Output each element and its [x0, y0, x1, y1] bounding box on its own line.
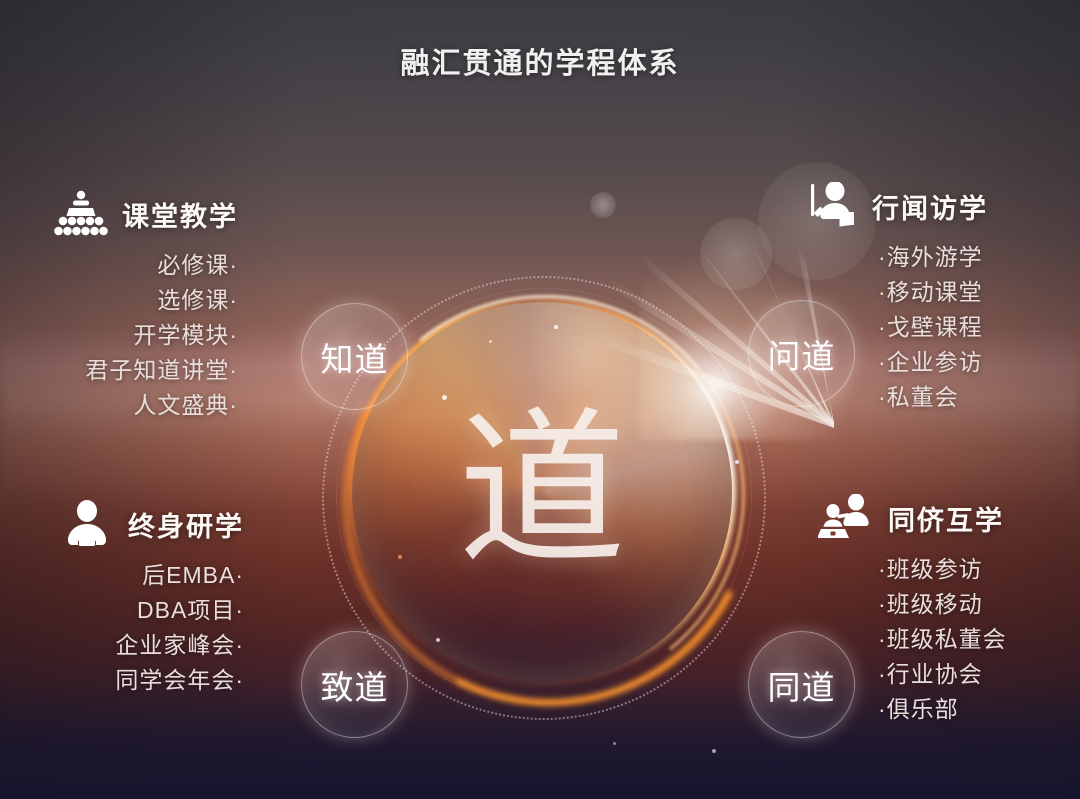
bokeh-circle-small — [590, 192, 616, 218]
group-title: 行闻访学 — [872, 187, 988, 226]
group-study-travel: 行闻访学 ·海外游学 ·移动课堂 ·戈壁课程 ·企业参访 ·私董会 — [802, 182, 988, 415]
list-item[interactable]: 同学会年会· — [58, 663, 244, 698]
bubble-zhidao2[interactable]: 致道 — [301, 631, 408, 738]
group-title: 同侪互学 — [888, 499, 1004, 538]
sparkle-speck — [436, 638, 440, 642]
group-lifelong-learning: 终身研学 后EMBA· DBA项目· 企业家峰会· 同学会年会· — [58, 500, 244, 698]
group-item-list: 必修课· 选修课· 开学模块· 君子知道讲堂· 人文盛典· — [52, 248, 238, 423]
sparkle-speck — [442, 395, 447, 400]
group-header: 终身研学 — [58, 500, 244, 548]
list-item[interactable]: 君子知道讲堂· — [52, 353, 238, 388]
list-item[interactable]: 人文盛典· — [52, 388, 238, 423]
bubble-zhidao[interactable]: 知道 — [301, 303, 408, 410]
group-header: 课堂教学 — [52, 190, 238, 238]
group-item-list: ·海外游学 ·移动课堂 ·戈壁课程 ·企业参访 ·私董会 — [878, 240, 988, 415]
sparkle-speck — [489, 340, 492, 343]
bubble-label: 知道 — [321, 333, 389, 381]
group-item-list: ·班级参访 ·班级移动 ·班级私董会 ·行业协会 ·俱乐部 — [878, 552, 1007, 727]
group-header: 同侪互学 — [818, 494, 1007, 542]
group-classroom-teaching: 课堂教学 必修课· 选修课· 开学模块· 君子知道讲堂· 人文盛典· — [52, 190, 238, 423]
sparkle-speck — [554, 325, 558, 329]
list-item[interactable]: ·企业参访 — [878, 345, 988, 380]
list-item[interactable]: 开学模块· — [52, 318, 238, 353]
list-item[interactable]: 企业家峰会· — [58, 628, 244, 663]
list-item[interactable]: 选修课· — [52, 283, 238, 318]
list-item[interactable]: 必修课· — [52, 248, 238, 283]
sparkle-speck — [735, 460, 739, 464]
list-item[interactable]: ·班级私董会 — [878, 622, 1007, 657]
tour-guide-flag-icon — [802, 182, 860, 230]
list-item[interactable]: ·私董会 — [878, 380, 988, 415]
list-item[interactable]: ·班级参访 — [878, 552, 1007, 587]
list-item[interactable]: DBA项目· — [58, 593, 244, 628]
poster-canvas: 道 融汇贯通的学程体系 — [0, 0, 1080, 799]
bubble-label: 致道 — [321, 661, 389, 709]
group-title: 终身研学 — [128, 505, 244, 544]
list-item[interactable]: ·戈壁课程 — [878, 310, 988, 345]
group-header: 行闻访学 — [802, 182, 988, 230]
page-title: 融汇贯通的学程体系 — [0, 40, 1080, 82]
group-item-list: 后EMBA· DBA项目· 企业家峰会· 同学会年会· — [58, 558, 244, 698]
group-peer-learning: 同侪互学 ·班级参访 ·班级移动 ·班级私董会 ·行业协会 ·俱乐部 — [818, 494, 1007, 727]
sparkle-speck — [613, 742, 616, 745]
list-item[interactable]: 后EMBA· — [58, 558, 244, 593]
lectern-audience-icon — [52, 190, 110, 238]
list-item[interactable]: ·移动课堂 — [878, 275, 988, 310]
sparkle-speck — [712, 749, 716, 753]
sparkle-speck — [398, 555, 402, 559]
list-item[interactable]: ·俱乐部 — [878, 692, 1007, 727]
person-reading-icon — [58, 500, 116, 548]
list-item[interactable]: ·海外游学 — [878, 240, 988, 275]
group-title: 课堂教学 — [122, 195, 238, 234]
two-people-laptop-icon — [818, 494, 876, 542]
list-item[interactable]: ·行业协会 — [878, 657, 1007, 692]
list-item[interactable]: ·班级移动 — [878, 587, 1007, 622]
